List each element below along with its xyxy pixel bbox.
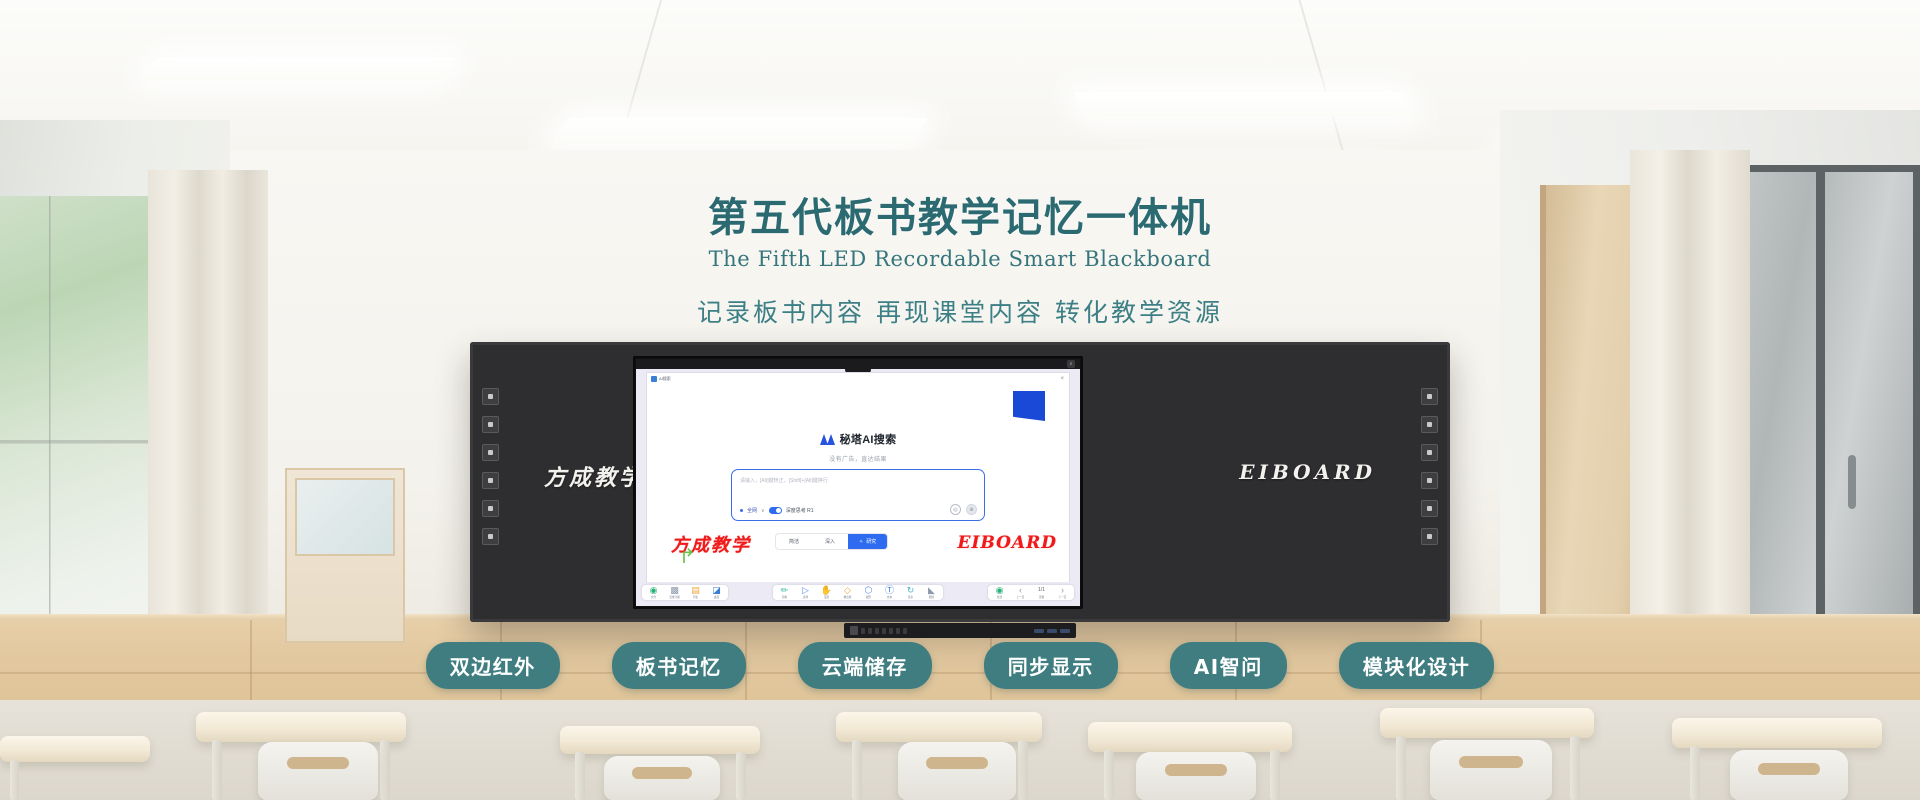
page-counter: 1/1 [1038,586,1045,595]
button-dot-icon [1427,450,1432,455]
zoom-icon[interactable]: ⌕ [1067,360,1075,368]
button-dot-icon [488,506,493,511]
display-surface: ⌕ AI搜索 × 秘塔AI搜索 没有广告，直达结 [636,359,1080,606]
search-action-icons: ◎ ⊕ [950,504,977,515]
pen-icon: ✏ [781,586,789,595]
desktop-icon: ◪ [712,586,721,595]
button-dot-icon [488,450,493,455]
left-ir-button-column [482,388,499,545]
metaso-logo-icon [820,434,836,445]
ceiling-light [1073,92,1417,116]
blackboard-control-panel[interactable] [844,623,1076,638]
student-desk [560,726,760,754]
desk-leg [380,740,390,800]
delete-icon: ◣ [928,586,935,595]
interactive-display[interactable]: ⌕ AI搜索 × 秘塔AI搜索 没有广告，直达结 [633,356,1083,609]
tool-pen[interactable]: ✏ 画笔 [776,586,793,599]
panel-port-icon [861,628,865,634]
button-dot-icon [488,534,493,539]
panel-slot-icon [1034,629,1044,633]
panel-button-icon[interactable] [850,626,858,635]
tool-prev-page[interactable]: ‹ 上一页 [1012,586,1029,599]
tool-label: 漫游 [824,596,829,599]
student-chair [1430,740,1552,800]
panel-port-icon [896,628,900,634]
desk-leg [1396,736,1406,800]
toolbar-center-group: ✏ 画笔 ▷ 选择 ✋ 漫游 ◇ 橡皮擦 [773,585,943,600]
panel-port-icon [875,628,879,634]
cabinet-glass-door [295,478,395,556]
smart-blackboard[interactable]: 方成教学 EIBOARD ⌕ AI搜索 × [470,342,1450,622]
button-dot-icon [488,478,493,483]
mode-dot-icon [740,509,743,512]
feature-pill-dual-infrared[interactable]: 双边红外 [426,642,560,689]
panel-port-icon [903,628,907,634]
toolbar-right-group: ◉ 新建 ‹ 上一页 1/1 页数 › 下一页 [988,585,1074,600]
button-dot-icon [1427,534,1432,539]
student-chair [258,742,378,800]
ceiling-light [143,58,458,80]
desk-leg [575,752,585,800]
tool-mindmap[interactable]: ▩ 思维导图 [666,586,683,599]
search-mode-label[interactable]: 全网 [747,507,757,514]
page-title: 第五代板书教学记忆一体机 [0,196,1920,240]
button-dot-icon [488,422,493,427]
undo-arrow-icon[interactable]: ↰ [679,546,696,566]
tool-label: 下一页 [1059,596,1067,599]
blue-marker-shape [1013,391,1045,421]
feature-pill-cloud-storage[interactable]: 云端储存 [798,642,932,689]
tool-new-page[interactable]: ◉ 新建 [991,586,1008,599]
text-icon: Ⓣ [885,586,894,595]
student-chair [1730,750,1848,800]
tool-pan[interactable]: ✋ 漫游 [818,586,835,599]
panel-port-icon [889,628,893,634]
tab-favicon-icon [651,376,657,382]
tool-label: 页数 [1039,596,1044,599]
button-dot-icon [1427,422,1432,427]
tool-label: 文本 [887,596,892,599]
mode-button-concise[interactable]: 简洁 [776,534,812,549]
feature-pill-board-memory[interactable]: 板书记忆 [612,642,746,689]
feature-pill-row: 双边红外 板书记忆 云端储存 同步显示 AI智问 模块化设计 [0,642,1920,689]
browser-page: AI搜索 × 秘塔AI搜索 没有广告，直达结果 请输入，[Alt]键矫正，[Sh… [647,373,1069,582]
right-ir-button-column [1421,388,1438,545]
student-desk [836,712,1042,742]
shape-icon: ⬡ [865,586,873,595]
door-handle-icon [1848,455,1856,509]
ir-button-1[interactable] [482,388,499,405]
tool-file[interactable]: ◉ 文件 [645,586,662,599]
student-chair [898,742,1016,800]
ir-button-4[interactable] [482,472,499,489]
tab-label: AI搜索 [659,376,671,382]
classroom-scene: 方成教学 EIBOARD ⌕ AI搜索 × [0,0,1920,800]
button-dot-icon [1427,506,1432,511]
brand-tagline: 没有广告，直达结果 [647,454,1069,463]
ir-button-9[interactable] [1421,444,1438,461]
student-desk [0,736,150,762]
ir-button-8[interactable] [1421,416,1438,433]
ir-button-7[interactable] [1421,388,1438,405]
tool-label: 桌面 [714,596,719,599]
annotation-toolbar: ◉ 文件 ▩ 思维导图 ▤ 列表 ◪ 桌面 [639,582,1077,603]
button-dot-icon [1427,394,1432,399]
button-dot-icon [1427,478,1432,483]
tool-label: 文件 [651,596,656,599]
more-icon: ↻ [907,586,915,595]
tool-next-page[interactable]: › 下一页 [1054,586,1071,599]
deep-think-label: 深度思考 R1 [786,507,814,514]
tool-label: 上一页 [1017,596,1025,599]
file-icon: ◉ [650,586,658,595]
feature-pill-ai-ask[interactable]: AI智问 [1170,642,1287,689]
tool-eraser[interactable]: ◇ 橡皮擦 [839,586,856,599]
blackboard-right-brand: EIBOARD [1239,460,1376,484]
tool-desktop[interactable]: ◪ 桌面 [708,586,725,599]
ir-button-5[interactable] [482,500,499,517]
ir-button-11[interactable] [1421,500,1438,517]
tool-delete[interactable]: ◣ 删除 [923,586,940,599]
desk-leg [10,760,19,800]
close-icon[interactable]: × [1060,376,1064,382]
button-dot-icon [488,394,493,399]
desk-leg [1104,750,1114,800]
desk-leg [852,740,862,800]
cursor-icon: ▷ [802,586,809,595]
chevron-down-icon[interactable]: ∨ [761,508,765,514]
hand-icon: ✋ [821,586,832,595]
search-mode-buttons: 简洁 深入 ✧ 研究 [775,533,888,550]
tool-label: 新建 [997,596,1002,599]
panel-slot-icon [1047,629,1057,633]
tool-label: 列表 [693,596,698,599]
desk-leg [212,740,222,800]
panel-port-icon [882,628,886,634]
tool-label: 选择 [803,596,808,599]
student-desk [1380,708,1594,738]
sparkle-icon: ✧ [859,539,863,545]
student-desk [1088,722,1292,752]
desk-leg [1018,740,1028,800]
mindmap-icon: ▩ [670,586,679,595]
ir-button-3[interactable] [482,444,499,461]
panel-slot-icon [1060,629,1070,633]
tool-label: 图形 [866,596,871,599]
student-desk [1672,718,1882,748]
browser-tab[interactable]: AI搜索 [651,376,671,382]
mode-button-research[interactable]: ✧ 研究 [848,534,887,549]
desk-leg [1570,736,1580,800]
ir-button-12[interactable] [1421,528,1438,545]
tool-list[interactable]: ▤ 列表 [687,586,704,599]
student-chair [604,756,720,800]
search-input[interactable]: 请输入，[Alt]键矫正，[Shift]+[Alt]键换行 全网 ∨ 深度思考 … [731,469,985,521]
toolbar-left-group: ◉ 文件 ▩ 思维导图 ▤ 列表 ◪ 桌面 [642,585,728,600]
desk-leg [1690,746,1700,800]
student-chair [1136,752,1256,800]
desk-leg [1270,750,1280,800]
chevron-left-icon: ‹ [1019,586,1022,595]
ir-button-6[interactable] [482,528,499,545]
feature-pill-sync-display[interactable]: 同步显示 [984,642,1118,689]
brand-name: 秘塔AI搜索 [840,431,897,447]
new-page-icon: ◉ [996,586,1004,595]
page-title-english: The Fifth LED Recordable Smart Blackboar… [0,247,1920,271]
handwriting-right: EIBOARD [958,533,1057,553]
tool-label: 画笔 [782,596,787,599]
ceiling-light [551,118,929,144]
panel-port-icon [868,628,872,634]
deep-think-toggle[interactable] [769,507,782,514]
desk-leg [736,752,746,800]
site-brand: 秘塔AI搜索 没有广告，直达结果 [647,431,1069,463]
feature-pill-modular-design[interactable]: 模块化设计 [1339,642,1495,689]
mode-button-deep[interactable]: 深入 [812,534,848,549]
page-indicator: 1/1 页数 [1033,586,1050,599]
student-desk [196,712,406,742]
chevron-right-icon: › [1061,586,1064,595]
search-placeholder: 请输入，[Alt]键矫正，[Shift]+[Alt]键换行 [740,477,828,484]
tool-text[interactable]: Ⓣ 文本 [881,586,898,599]
attach-icon[interactable]: ⊕ [966,504,977,515]
list-icon: ▤ [691,586,700,595]
tool-select[interactable]: ▷ 选择 [797,586,814,599]
tool-shape[interactable]: ⬡ 图形 [860,586,877,599]
eraser-icon: ◇ [844,586,851,595]
tool-label: 思维导图 [669,596,679,599]
display-top-bar: ⌕ [636,359,1080,369]
tool-label: 橡皮擦 [844,596,852,599]
page-subtitle: 记录板书内容 再现课堂内容 转化教学资源 [0,293,1920,329]
mode-button-research-label: 研究 [866,538,876,545]
ir-button-10[interactable] [1421,472,1438,489]
blackboard-left-brand: 方成教学 [544,460,644,492]
ir-button-2[interactable] [482,416,499,433]
tool-more[interactable]: ↻ 更多 [902,586,919,599]
hero-heading-block: 第五代板书教学记忆一体机 The Fifth LED Recordable Sm… [0,196,1920,329]
camera-icon[interactable]: ◎ [950,504,961,515]
tool-label: 删除 [929,596,934,599]
search-options: 全网 ∨ 深度思考 R1 [740,507,813,514]
tool-label: 更多 [908,596,913,599]
